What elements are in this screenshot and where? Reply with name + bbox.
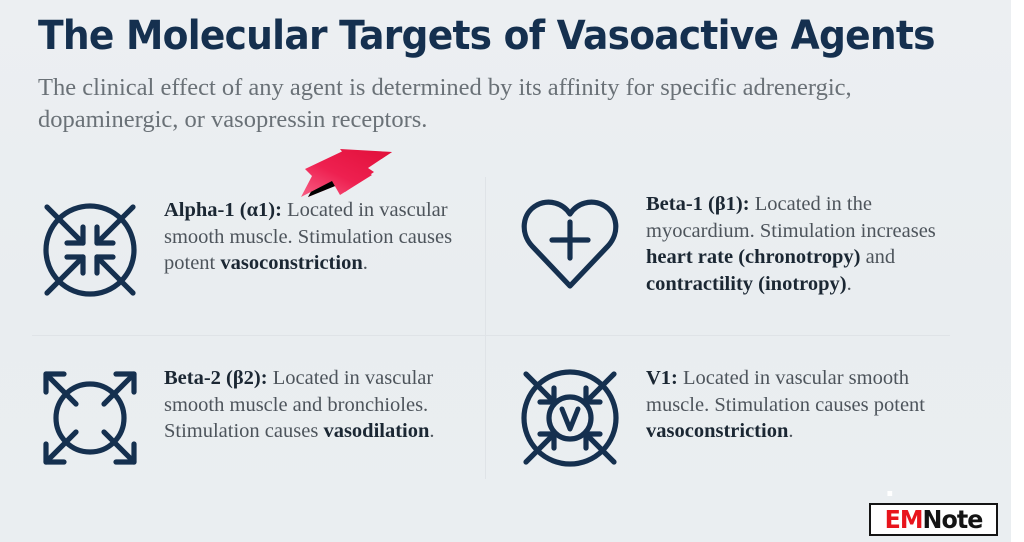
quadrant-beta-1-text: Beta-1 (β1): Located in the myocardium. …	[646, 186, 936, 297]
header: The Molecular Targets of Vasoactive Agen…	[38, 12, 968, 136]
quadrant-beta-1-term: Beta-1 (β1):	[646, 193, 750, 215]
quadrant-v1: V1: Located in vascular smooth muscle. S…	[512, 360, 967, 476]
quadrant-alpha-1-term: Alpha-1 (α1):	[164, 199, 282, 221]
emnote-logo-em-text: EM	[885, 505, 923, 534]
emnote-logo: EM Note	[869, 503, 998, 536]
red-pointer-arrow-icon	[296, 148, 396, 204]
quadrant-alpha-1: Alpha-1 (α1): Located in vascular smooth…	[32, 192, 487, 308]
heart-plus-icon	[512, 186, 628, 302]
slide-canvas: The Molecular Targets of Vasoactive Agen…	[0, 0, 1024, 542]
quadrant-v1-text: V1: Located in vascular smooth muscle. S…	[646, 360, 936, 445]
quadrant-v1-body: Located in vascular smooth muscle. Stimu…	[646, 367, 925, 442]
quadrant-alpha-1-text: Alpha-1 (α1): Located in vascular smooth…	[164, 192, 454, 277]
receptor-grid: Alpha-1 (α1): Located in vascular smooth…	[0, 178, 1024, 498]
quadrant-beta-1: Beta-1 (β1): Located in the myocardium. …	[512, 186, 967, 302]
emnote-wordmark: EM Note	[885, 507, 983, 532]
quadrant-beta-2-text: Beta-2 (β2): Located in vascular smooth …	[164, 360, 454, 445]
circle-arrows-inward-icon	[32, 192, 148, 308]
emnote-logo-em: EM	[885, 507, 923, 532]
quadrant-beta-2: Beta-2 (β2): Located in vascular smooth …	[32, 360, 487, 476]
circle-arrows-outward-icon	[32, 360, 148, 476]
emnote-logo-note: Note	[923, 507, 983, 532]
page-title: The Molecular Targets of Vasoactive Agen…	[38, 12, 912, 61]
circle-v-arrows-inward-icon	[512, 360, 628, 476]
quadrant-v1-term: V1:	[646, 367, 678, 389]
page-subtitle: The clinical effect of any agent is dete…	[38, 72, 878, 136]
emnote-logo-dot	[887, 491, 892, 496]
quadrant-beta-2-term: Beta-2 (β2):	[164, 367, 268, 389]
